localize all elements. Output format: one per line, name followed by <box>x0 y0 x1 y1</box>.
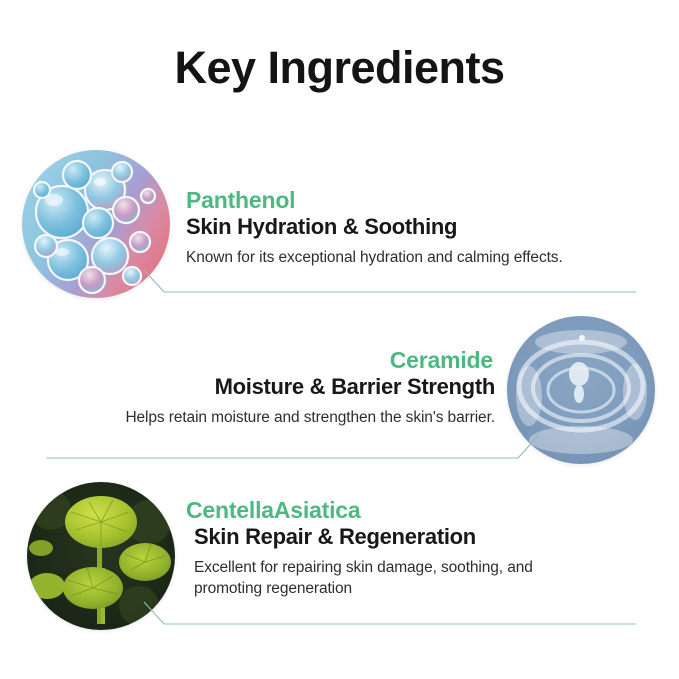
ingredient-description-line-2: promoting regeneration <box>194 579 646 600</box>
connector-line-1 <box>140 268 640 304</box>
ingredient-description: Helps retain moisture and strengthen the… <box>45 408 495 429</box>
ingredient-description-line-1: Excellent for repairing skin damage, soo… <box>194 558 646 579</box>
ingredient-text-centella-asiatica: CentellaAsiatica Skin Repair & Regenerat… <box>186 498 646 600</box>
connector-line-2 <box>42 434 542 470</box>
ingredient-benefit: Moisture & Barrier Strength <box>45 374 495 399</box>
ingredient-name: CentellaAsiatica <box>186 498 646 524</box>
ingredient-name: Panthenol <box>186 188 641 214</box>
ingredient-text-ceramide: Ceramide Moisture & Barrier Strength Hel… <box>45 348 495 429</box>
ingredient-description: Known for its exceptional hydration and … <box>186 248 641 269</box>
ingredient-benefit: Skin Hydration & Soothing <box>186 214 641 239</box>
ingredient-text-panthenol: Panthenol Skin Hydration & Soothing Know… <box>186 188 641 269</box>
ingredient-benefit: Skin Repair & Regeneration <box>186 524 646 549</box>
connector-line-3 <box>140 600 640 636</box>
key-ingredients-infographic: Key Ingredients <box>0 0 679 679</box>
page-title: Key Ingredients <box>0 44 679 91</box>
ingredient-description: Excellent for repairing skin damage, soo… <box>186 558 646 600</box>
ingredient-name: Ceramide <box>45 348 495 374</box>
